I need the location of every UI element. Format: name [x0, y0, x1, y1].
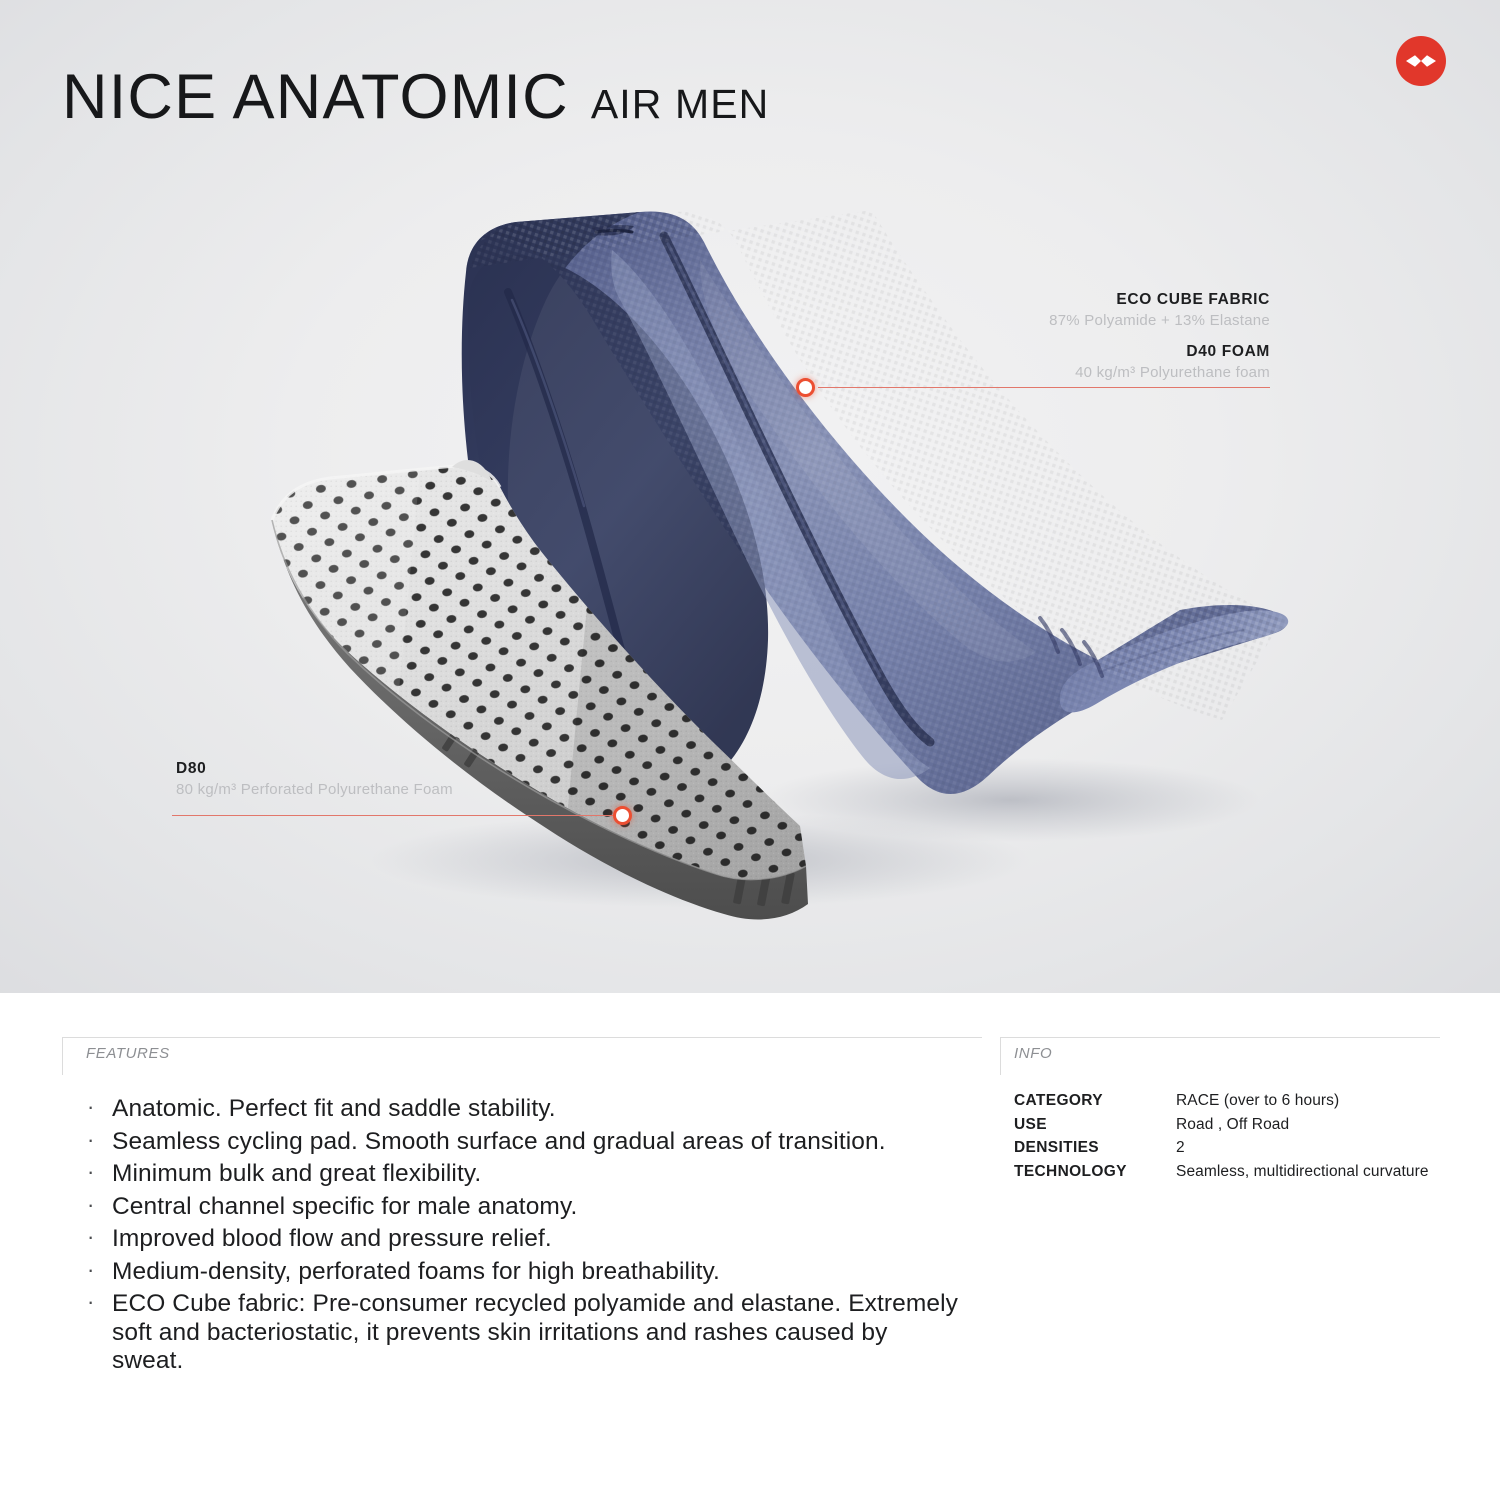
features-heading: FEATURES	[86, 1045, 170, 1062]
callout-title: ECO CUBE FABRIC	[860, 290, 1270, 311]
info-key: CATEGORY	[1014, 1089, 1176, 1113]
table-row: DENSITIES 2	[1014, 1136, 1429, 1160]
bullet-glyph: ·	[87, 1192, 94, 1218]
bullet-glyph: ·	[87, 1257, 94, 1283]
brand-logo-icon[interactable]	[1396, 36, 1446, 86]
list-item-text: Medium-density, perforated foams for hig…	[112, 1258, 720, 1285]
product-illustration	[0, 0, 1500, 993]
callout-subtitle: 80 kg/m³ Perforated Polyurethane Foam	[176, 780, 596, 800]
callout-subtitle: 40 kg/m³ Polyurethane foam	[860, 363, 1270, 383]
page-title: NICE ANATOMIC AIR MEN	[62, 66, 769, 129]
callout-title: D80	[176, 759, 596, 780]
list-item-text: Minimum bulk and great flexibility.	[112, 1160, 481, 1187]
info-heading: INFO	[1014, 1045, 1052, 1062]
table-row: USE Road , Off Road	[1014, 1113, 1429, 1137]
features-left-rule	[62, 1037, 63, 1075]
bullet-glyph: ·	[87, 1224, 94, 1250]
info-value: 2	[1176, 1136, 1429, 1160]
bullet-glyph: ·	[87, 1094, 94, 1120]
callout-d40-foam: D40 FOAM 40 kg/m³ Polyurethane foam	[860, 342, 1270, 383]
callout-subtitle: 87% Polyamide + 13% Elastane	[860, 311, 1270, 331]
leader-line-d40	[818, 387, 1270, 388]
features-top-rule	[62, 1037, 982, 1038]
title-main: NICE ANATOMIC	[62, 66, 569, 129]
info-table: CATEGORY RACE (over to 6 hours) USE Road…	[1014, 1089, 1429, 1183]
list-item: · Minimum bulk and great flexibility.	[84, 1160, 964, 1189]
info-key: TECHNOLOGY	[1014, 1160, 1176, 1184]
list-item-text: Central channel specific for male anatom…	[112, 1193, 577, 1220]
leader-line-d80	[172, 815, 622, 816]
list-item: · Seamless cycling pad. Smooth surface a…	[84, 1128, 964, 1157]
callout-marker-d80[interactable]	[613, 806, 632, 825]
product-spec-sheet: NICE ANATOMIC AIR MEN ECO CUBE FABRIC 87…	[0, 0, 1500, 1500]
title-sub: AIR MEN	[591, 84, 770, 125]
info-value: Road , Off Road	[1176, 1113, 1429, 1137]
list-item: · Improved blood flow and pressure relie…	[84, 1225, 964, 1254]
table-row: TECHNOLOGY Seamless, multidirectional cu…	[1014, 1160, 1429, 1184]
info-left-rule	[1000, 1037, 1001, 1075]
list-item: · Central channel specific for male anat…	[84, 1193, 964, 1222]
list-item: · ECO Cube fabric: Pre-consumer recycled…	[84, 1290, 964, 1376]
list-item-text: Seamless cycling pad. Smooth surface and…	[112, 1128, 886, 1155]
hero-section: NICE ANATOMIC AIR MEN ECO CUBE FABRIC 87…	[0, 0, 1500, 993]
callout-marker-d40[interactable]	[796, 378, 815, 397]
callout-eco-cube-fabric: ECO CUBE FABRIC 87% Polyamide + 13% Elas…	[860, 290, 1270, 331]
details-section: FEATURES · Anatomic. Perfect fit and sad…	[0, 993, 1500, 1500]
info-value: Seamless, multidirectional curvature	[1176, 1160, 1429, 1184]
info-value: RACE (over to 6 hours)	[1176, 1089, 1429, 1113]
info-key: USE	[1014, 1113, 1176, 1137]
table-row: CATEGORY RACE (over to 6 hours)	[1014, 1089, 1429, 1113]
bullet-glyph: ·	[87, 1159, 94, 1185]
list-item: · Medium-density, perforated foams for h…	[84, 1258, 964, 1287]
list-item-text: Improved blood flow and pressure relief.	[112, 1225, 552, 1252]
bullet-glyph: ·	[87, 1289, 94, 1315]
info-key: DENSITIES	[1014, 1136, 1176, 1160]
bullet-glyph: ·	[87, 1127, 94, 1153]
list-item-text: ECO Cube fabric: Pre-consumer recycled p…	[112, 1290, 958, 1374]
info-top-rule	[1000, 1037, 1440, 1038]
list-item-text: Anatomic. Perfect fit and saddle stabili…	[112, 1095, 556, 1122]
callout-d80-foam: D80 80 kg/m³ Perforated Polyurethane Foa…	[176, 759, 596, 800]
callout-title: D40 FOAM	[860, 342, 1270, 363]
list-item: · Anatomic. Perfect fit and saddle stabi…	[84, 1095, 964, 1124]
features-list: · Anatomic. Perfect fit and saddle stabi…	[84, 1095, 964, 1380]
